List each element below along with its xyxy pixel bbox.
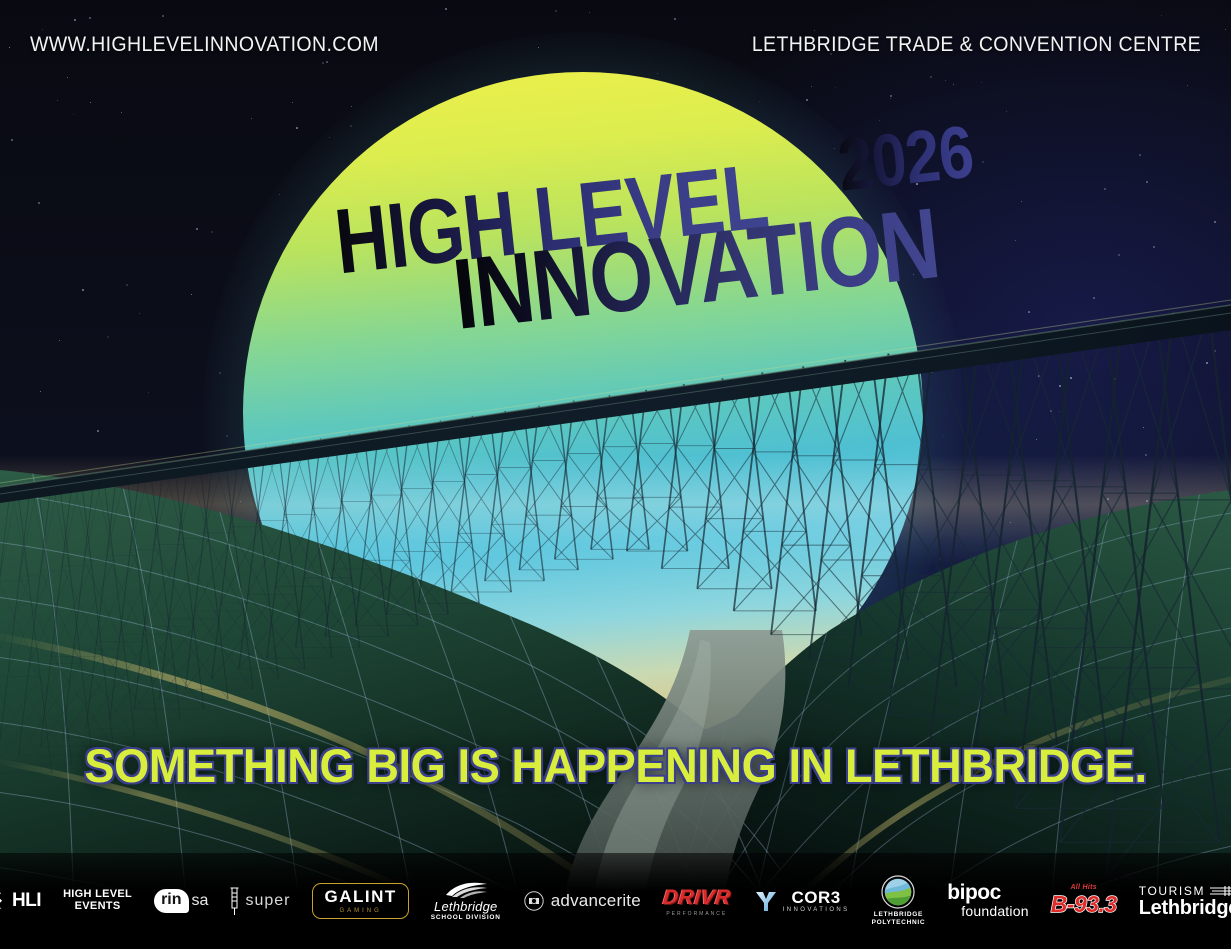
poster: WWW.HIGHLEVELINNOVATION.COM LETHBRIDGE T… [0,0,1231,949]
cor3-mark-icon [753,888,779,914]
ring-icon [523,890,545,912]
sponsor-sublabel-cor3: INNOVATIONS [783,907,850,913]
website-url[interactable]: WWW.HIGHLEVELINNOVATION.COM [30,33,379,57]
sponsor-label-hli: HLI [12,890,41,912]
sponsor-label-tourism-line2: Lethbridge [1139,898,1231,918]
sponsor-label-drivr: DRIVR [662,886,732,910]
sponsor-logo-lethbridge-polytechnic[interactable]: LETHBRIDGE POLYTECHNIC [872,878,926,924]
bridge-mark-icon [1210,885,1231,897]
tagline: SOMETHING BIG IS HAPPENING IN LETHBRIDGE… [25,738,1207,793]
sponsor-label-lpoly-line2: POLYTECHNIC [872,919,926,927]
header-bar: WWW.HIGHLEVELINNOVATION.COM LETHBRIDGE T… [0,0,1231,90]
sponsor-logo-bipoc[interactable]: bipoc foundation [947,878,1028,924]
sponsor-logo-tourism-lethbridge[interactable]: TOURISM Lethbridge [1139,878,1231,924]
sponsor-label-tourism-line1: TOURISM [1139,884,1205,898]
sponsor-label-hle-line2: EVENTS [75,901,121,913]
sponsor-sublabel-drivr: PERFORMANCE [663,911,731,917]
sponsor-label-lsd-line2: SCHOOL DIVISION [431,914,501,921]
sponsor-label-lsd-line1: Lethbridge [431,899,501,914]
sponsor-label-cor3: COR3 [792,889,841,907]
sponsor-logo-super[interactable]: super [230,878,290,924]
venue-name: LETHBRIDGE TRADE & CONVENTION CENTRE [752,33,1201,57]
sponsor-logo-lethbridge-school-division[interactable]: Lethbridge SCHOOL DIVISION [431,878,501,924]
sponsor-sublabel-galint: GAMING [324,908,396,914]
sponsor-label-advancerite: advancerite [551,891,641,911]
swoosh-icon [444,881,488,898]
syringe-icon [230,886,239,916]
sponsor-logo-advancerite[interactable]: advancerite [523,878,641,924]
sponsor-label-b933: B-93.3 [1051,891,1117,918]
sponsor-label-galint: GALINT [324,887,396,906]
sponsor-tagline-b933: All Hits [1051,884,1117,891]
sponsor-logo-rinsa[interactable]: rin sa [154,878,208,924]
sponsor-logo-bar: HLI HIGH LEVEL EVENTS rin sa [0,853,1231,949]
sponsor-label-rinsa-suffix: sa [192,892,209,910]
sponsor-label-bipoc-line2: foundation [961,903,1028,919]
sponsor-label-super: super [245,892,290,910]
sponsor-logo-cor3[interactable]: COR3 INNOVATIONS [753,878,850,924]
high-level-bridge [0,0,1231,949]
sponsor-label-rinsa-bubble: rin [154,889,188,913]
sponsor-logo-high-level-events[interactable]: HIGH LEVEL EVENTS [63,878,132,924]
prairie-badge-icon [881,875,915,909]
sponsor-logo-b933[interactable]: All Hits B-93.3 [1051,878,1117,924]
sponsor-logo-hli[interactable]: HLI [0,878,41,924]
hli-cube-icon [0,891,9,911]
sponsor-logo-galint[interactable]: GALINT GAMING [312,878,408,924]
sponsor-label-lpoly-line1: LETHBRIDGE [872,911,926,919]
sponsor-label-bipoc-line1: bipoc [947,883,1028,903]
sponsor-logo-drivr[interactable]: DRIVR PERFORMANCE [663,878,731,924]
